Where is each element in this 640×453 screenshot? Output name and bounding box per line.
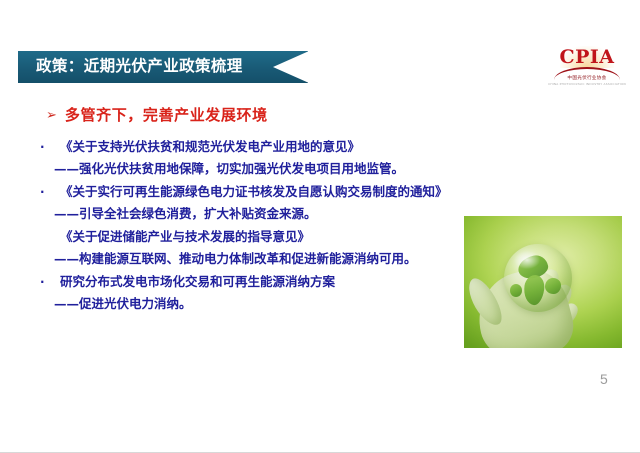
policy-description: ——引导全社会绿色消费，扩大补贴资金来源。 <box>34 203 464 225</box>
page-title: 政策：近期光伏产业政策梳理 <box>36 59 243 75</box>
list-item: · 《关于支持光伏扶贫和规范光伏发电产业用地的意见》 ——强化光伏扶贫用地保障，… <box>34 136 464 180</box>
slide-canvas: 政策：近期光伏产业政策梳理 CPIA 中国光伏行业协会 CHINA PHOTOV… <box>0 0 640 453</box>
policy-title: 《关于促进储能产业与技术发展的指导意见》 <box>60 226 310 248</box>
policy-headline-row: 《关于促进储能产业与技术发展的指导意见》 <box>34 226 464 248</box>
policy-description: ——强化光伏扶贫用地保障，切实加强光伏发电项目用地监管。 <box>34 158 464 180</box>
policy-description: ——构建能源互联网、推动电力体制改革和促进新能源消纳可用。 <box>34 248 464 270</box>
page-number: 5 <box>600 371 608 387</box>
bullet-dot-icon: · <box>34 181 60 203</box>
list-item: · 研究分布式发电市场化交易和可再生能源消纳方案 ——促进光伏电力消纳。 <box>34 271 464 315</box>
cpia-logo: CPIA 中国光伏行业协会 CHINA PHOTOVOLTAIC INDUSTR… <box>548 44 626 88</box>
policy-list: · 《关于支持光伏扶贫和规范光伏发电产业用地的意见》 ——强化光伏扶贫用地保障，… <box>34 136 464 316</box>
section-subtitle: ➢ 多管齐下，完善产业发展环境 <box>46 104 268 125</box>
photo-vignette <box>464 216 622 348</box>
policy-headline-row: · 《关于实行可再生能源绿色电力证书核发及自愿认购交易制度的通知》 <box>34 181 464 203</box>
logo-wordmark: CPIA <box>548 44 626 67</box>
logo-english-name: CHINA PHOTOVOLTAIC INDUSTRY ASSOCIATION <box>548 82 626 86</box>
policy-description: ——促进光伏电力消纳。 <box>34 293 464 315</box>
bullet-dot-icon: · <box>34 136 60 158</box>
hand-holding-globe-image <box>464 216 622 348</box>
bullet-dot-icon: · <box>34 271 60 293</box>
slide-title-banner: 政策：近期光伏产业政策梳理 <box>18 51 308 83</box>
policy-title: 《关于实行可再生能源绿色电力证书核发及自愿认购交易制度的通知》 <box>60 181 448 203</box>
policy-headline-row: · 研究分布式发电市场化交易和可再生能源消纳方案 <box>34 271 464 293</box>
policy-headline-row: · 《关于支持光伏扶贫和规范光伏发电产业用地的意见》 <box>34 136 464 158</box>
logo-chinese-name: 中国光伏行业协会 <box>548 75 626 81</box>
policy-title: 《关于支持光伏扶贫和规范光伏发电产业用地的意见》 <box>60 136 360 158</box>
policy-title: 研究分布式发电市场化交易和可再生能源消纳方案 <box>60 271 335 293</box>
list-item: · 《关于实行可再生能源绿色电力证书核发及自愿认购交易制度的通知》 ——引导全社… <box>34 181 464 225</box>
list-item: 《关于促进储能产业与技术发展的指导意见》 ——构建能源互联网、推动电力体制改革和… <box>34 226 464 270</box>
arrow-bullet-icon: ➢ <box>46 109 57 122</box>
section-subtitle-text: 多管齐下，完善产业发展环境 <box>65 104 268 125</box>
